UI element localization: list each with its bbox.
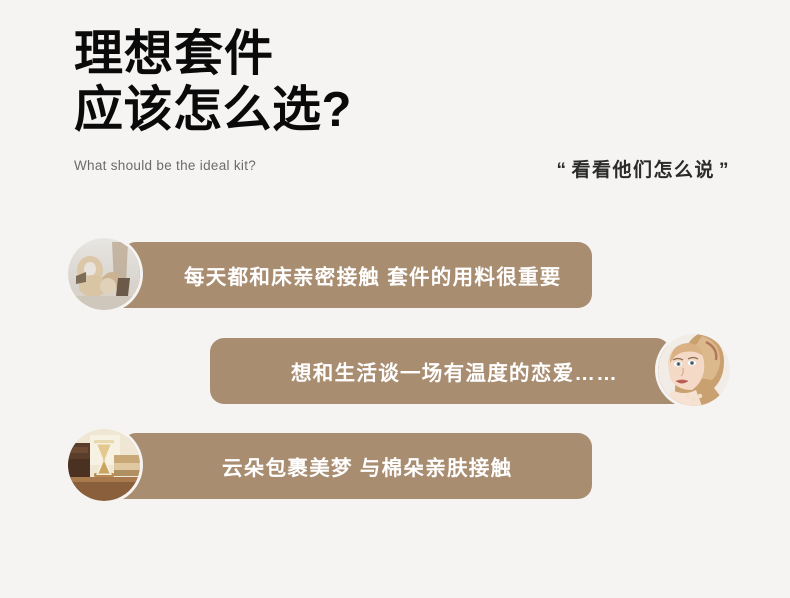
page-title-line-1: 理想套件 — [74, 26, 774, 82]
testimonial-row: 每天都和床亲密接触 套件的用料很重要 — [0, 236, 790, 316]
avatar — [658, 334, 730, 406]
testimonial-bubble: 每天都和床亲密接触 套件的用料很重要 — [122, 242, 592, 308]
ceramic-decor-photo-icon — [68, 238, 140, 310]
testimonial-bubble: 云朵包裹美梦 与棉朵亲肤接触 — [122, 433, 592, 499]
testimonial-row: 想和生活谈一场有温度的恋爱…… — [0, 332, 790, 412]
avatar — [68, 429, 140, 501]
avatar — [68, 238, 140, 310]
close-quote-icon: ” — [715, 160, 734, 181]
open-quote-icon: “ — [552, 160, 571, 181]
testimonial-list: 每天都和床亲密接触 套件的用料很重要 想和生活谈一场有温度的恋爱…… — [0, 236, 790, 523]
testimonial-text: 想和生活谈一场有温度的恋爱…… — [291, 356, 618, 386]
quote-tagline: “看看他们怎么说” — [552, 155, 734, 182]
quote-tagline-text: 看看他们怎么说 — [571, 160, 715, 181]
testimonial-text: 云朵包裹美梦 与棉朵亲肤接触 — [222, 451, 512, 481]
hourglass-shelf-photo-icon — [68, 429, 140, 501]
testimonial-text: 每天都和床亲密接触 套件的用料很重要 — [184, 260, 562, 290]
testimonial-bubble: 想和生活谈一场有温度的恋爱…… — [210, 338, 670, 404]
promo-page: 理想套件 应该怎么选? What should be the ideal kit… — [0, 0, 790, 598]
page-header: 理想套件 应该怎么选? What should be the ideal kit… — [74, 26, 774, 173]
portrait-woman-photo-icon — [658, 334, 730, 406]
page-title-line-2: 应该怎么选? — [74, 82, 774, 138]
testimonial-row: 云朵包裹美梦 与棉朵亲肤接触 — [0, 427, 790, 507]
